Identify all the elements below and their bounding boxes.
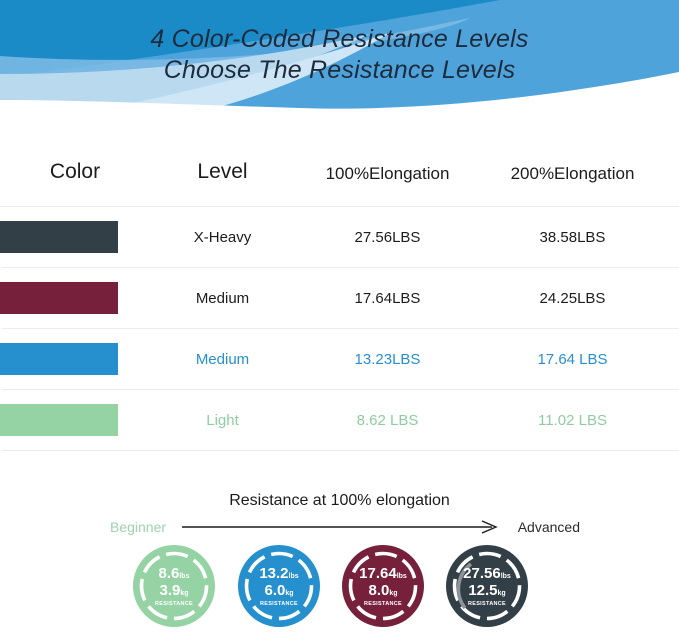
scale-label-beginner: Beginner (110, 519, 182, 535)
color-swatch-cell (0, 343, 150, 375)
segmented-ring-icon (445, 544, 529, 628)
color-swatch-cell (0, 282, 150, 314)
banner-decoration (0, 0, 679, 112)
color-swatch (0, 221, 118, 253)
elongation-100-cell: 8.62 LBS (295, 412, 480, 429)
column-header-level: Level (150, 160, 295, 206)
level-cell: X-Heavy (150, 229, 295, 246)
table-row: Light 8.62 LBS 11.02 LBS (0, 390, 679, 450)
header-banner: 4 Color-Coded Resistance Levels Choose T… (0, 0, 679, 112)
arrow-right-icon (182, 520, 502, 534)
column-header-elongation-200: 200%Elongation (480, 164, 665, 206)
resistance-scale: Resistance at 100% elongation Beginner A… (0, 492, 679, 540)
elongation-200-cell: 38.58LBS (480, 229, 665, 246)
scale-axis: Beginner Advanced (110, 516, 580, 538)
row-divider (0, 450, 679, 451)
table-row: Medium 13.23LBS 17.64 LBS (0, 329, 679, 389)
scale-caption: Resistance at 100% elongation (0, 492, 679, 510)
color-swatch-cell (0, 221, 150, 253)
resistance-badge: 8.6lbs 3.9kg RESISTANCE (132, 544, 216, 628)
level-cell: Medium (150, 290, 295, 307)
color-swatch-cell (0, 404, 150, 436)
segmented-ring-icon (237, 544, 321, 628)
elongation-100-cell: 27.56LBS (295, 229, 480, 246)
color-swatch (0, 404, 118, 436)
level-cell: Light (150, 412, 295, 429)
segmented-ring-icon (341, 544, 425, 628)
segmented-ring-icon (132, 544, 216, 628)
column-header-elongation-100: 100%Elongation (295, 164, 480, 206)
color-swatch (0, 282, 118, 314)
resistance-table: Color Level 100%Elongation 200%Elongatio… (0, 112, 679, 451)
scale-label-advanced: Advanced (502, 519, 580, 535)
column-header-color: Color (0, 160, 150, 206)
resistance-badge: 17.64lbs 8.0kg RESISTANCE (341, 544, 425, 628)
resistance-badge: 27.56lbs 12.5kg RESISTANCE (445, 544, 529, 628)
resistance-levels-infographic: 4 Color-Coded Resistance Levels Choose T… (0, 0, 679, 633)
table-row: X-Heavy 27.56LBS 38.58LBS (0, 207, 679, 267)
elongation-200-cell: 17.64 LBS (480, 351, 665, 368)
elongation-200-cell: 24.25LBS (480, 290, 665, 307)
elongation-100-cell: 17.64LBS (295, 290, 480, 307)
resistance-badges: 8.6lbs 3.9kg RESISTANCE 13.2lbs 6.0kg RE… (0, 544, 679, 633)
color-swatch (0, 343, 118, 375)
level-cell: Medium (150, 351, 295, 368)
elongation-100-cell: 13.23LBS (295, 351, 480, 368)
elongation-200-cell: 11.02 LBS (480, 412, 665, 429)
table-row: Medium 17.64LBS 24.25LBS (0, 268, 679, 328)
resistance-badge: 13.2lbs 6.0kg RESISTANCE (237, 544, 321, 628)
table-header-row: Color Level 100%Elongation 200%Elongatio… (0, 112, 679, 206)
